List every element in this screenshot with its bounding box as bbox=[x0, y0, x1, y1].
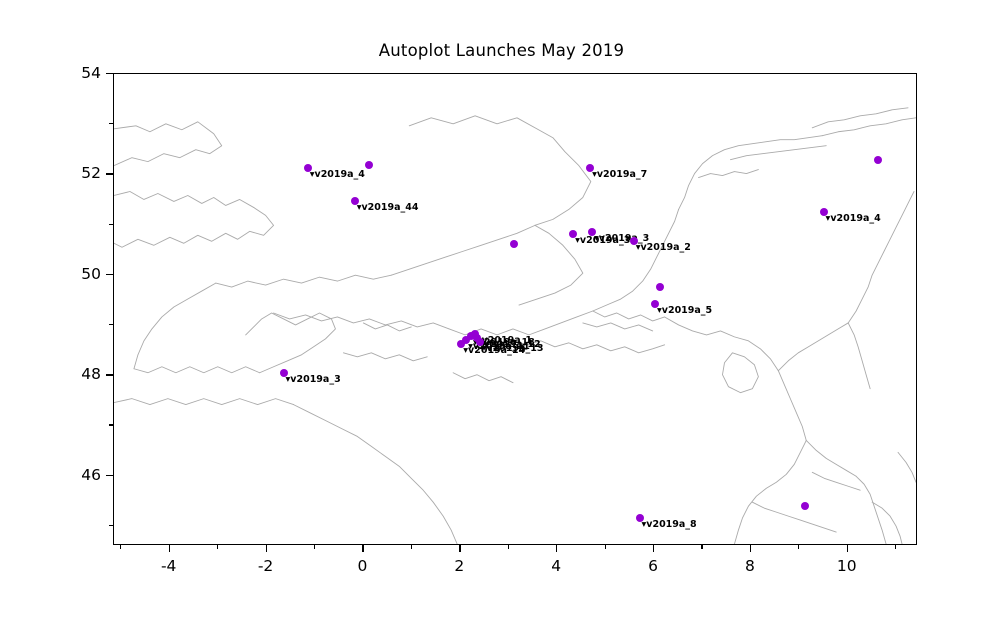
x-tick-label: 0 bbox=[340, 557, 384, 575]
data-point[interactable] bbox=[365, 161, 373, 169]
x-tick-label: 2 bbox=[437, 557, 481, 575]
x-tick-minor bbox=[605, 545, 606, 549]
data-point-label: ▾v2019a_8 bbox=[642, 520, 697, 530]
y-tick-label: 48 bbox=[55, 365, 101, 383]
x-tick-minor bbox=[411, 545, 412, 549]
x-tick-label: 10 bbox=[825, 557, 869, 575]
y-tick-major bbox=[106, 475, 113, 476]
page-title: Autoplot Launches May 2019 bbox=[0, 41, 1003, 60]
data-point-label: ▾v2019a_3 bbox=[286, 375, 341, 385]
x-tick-label: -2 bbox=[244, 557, 288, 575]
x-axis-labels: -4-20246810 bbox=[113, 557, 917, 581]
y-tick-major bbox=[106, 173, 113, 174]
plot-area: ▾v2019a_4▾v2019a_44▾v2019a_3▾v2019a_14▾v… bbox=[113, 73, 917, 545]
data-point[interactable] bbox=[874, 156, 882, 164]
data-points-layer: ▾v2019a_4▾v2019a_44▾v2019a_3▾v2019a_14▾v… bbox=[114, 74, 916, 544]
y-tick-major bbox=[106, 73, 113, 74]
data-point-label: ▾v2019a_44 bbox=[357, 203, 419, 213]
y-tick-major bbox=[106, 374, 113, 375]
y-tick-minor bbox=[109, 424, 113, 425]
figure-canvas: Autoplot Launches May 2019 bbox=[0, 0, 1003, 633]
x-tick-major bbox=[750, 545, 751, 552]
x-tick-minor bbox=[798, 545, 799, 549]
y-axis-labels: 4648505254 bbox=[55, 73, 101, 545]
data-point-label: ▾v2019a_13 bbox=[482, 344, 544, 354]
y-tick-label: 50 bbox=[55, 265, 101, 283]
x-tick-major bbox=[556, 545, 557, 552]
y-tick-minor bbox=[109, 123, 113, 124]
x-tick-major bbox=[847, 545, 848, 552]
x-tick-label: 8 bbox=[728, 557, 772, 575]
x-tick-label: -4 bbox=[147, 557, 191, 575]
x-tick-label: 4 bbox=[534, 557, 578, 575]
x-tick-minor bbox=[701, 545, 702, 549]
x-tick-minor bbox=[217, 545, 218, 549]
y-tick-major bbox=[106, 274, 113, 275]
y-tick-minor bbox=[109, 224, 113, 225]
x-tick-minor bbox=[314, 545, 315, 549]
data-point-label: ▾v2019a_2 bbox=[636, 243, 691, 253]
y-tick-label: 52 bbox=[55, 164, 101, 182]
x-tick-minor bbox=[120, 545, 121, 549]
data-point-label: ▾v2019a_7 bbox=[592, 170, 647, 180]
y-tick-minor bbox=[109, 525, 113, 526]
x-tick-major bbox=[266, 545, 267, 552]
x-tick-minor bbox=[508, 545, 509, 549]
x-tick-minor bbox=[895, 545, 896, 549]
x-tick-major bbox=[169, 545, 170, 552]
data-point[interactable] bbox=[510, 240, 518, 248]
data-point-label: ▾v2019a_4 bbox=[826, 214, 881, 224]
y-tick-label: 54 bbox=[55, 64, 101, 82]
x-tick-label: 6 bbox=[631, 557, 675, 575]
data-point[interactable] bbox=[656, 283, 664, 291]
y-tick-label: 46 bbox=[55, 466, 101, 484]
data-point-label: ▾v2019a_4 bbox=[310, 170, 365, 180]
y-tick-minor bbox=[109, 324, 113, 325]
x-tick-major bbox=[459, 545, 460, 552]
x-tick-major bbox=[362, 545, 363, 552]
x-tick-major bbox=[653, 545, 654, 552]
data-point[interactable] bbox=[801, 502, 809, 510]
data-point-label: ▾v2019a_5 bbox=[657, 306, 712, 316]
